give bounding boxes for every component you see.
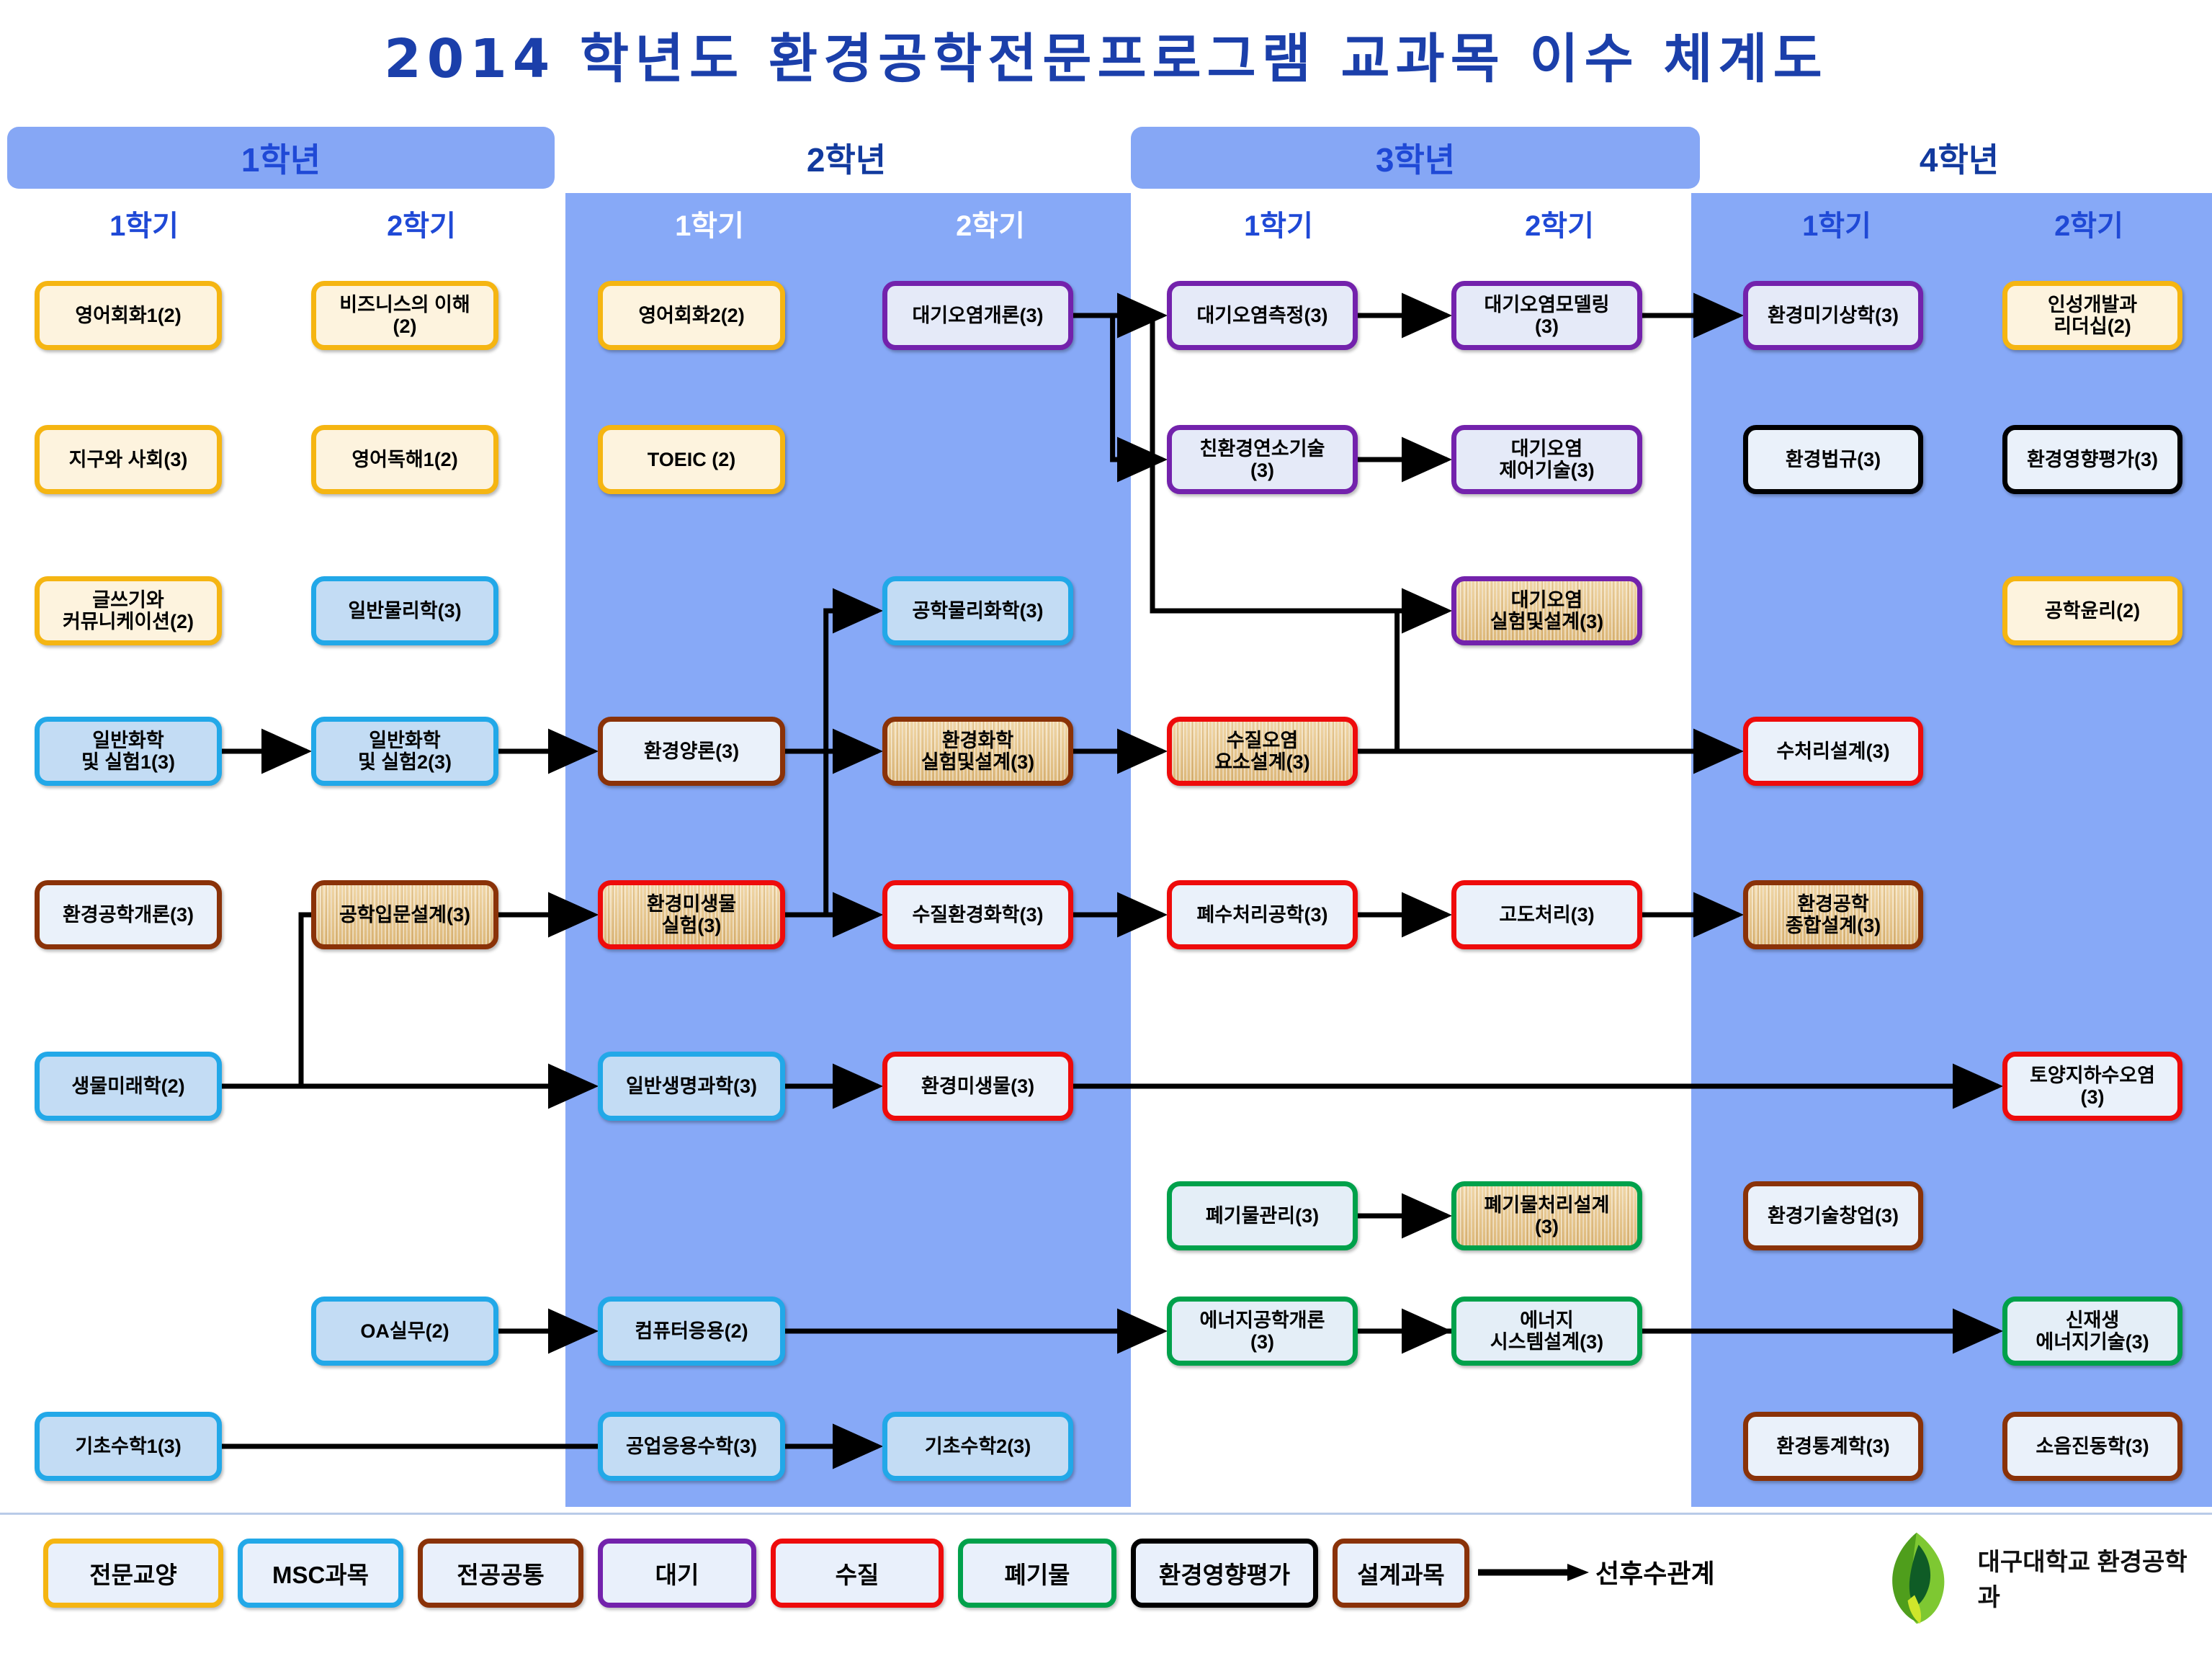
course-box-y2s1f[interactable]: 컴퓨터응용(2): [598, 1297, 785, 1366]
sem-header-5: 2학기: [1423, 202, 1696, 245]
course-box-y1s2c[interactable]: 일반물리학(3): [311, 576, 498, 645]
course-label: 토양지하수오염 (3): [2030, 1065, 2155, 1108]
course-label: 환경공학개론(3): [63, 904, 194, 926]
course-label: 대기오염측정(3): [1196, 305, 1327, 326]
course-label: 폐기물처리설계 (3): [1485, 1194, 1610, 1237]
year-band-3: 3학년: [1131, 127, 1700, 189]
course-box-y4s1a[interactable]: 환경미기상학(3): [1743, 281, 1923, 350]
course-label: 폐기물관리(3): [1206, 1205, 1319, 1227]
sem-header-0: 1학기: [14, 202, 274, 245]
course-box-y4s1f[interactable]: 환경통계학(3): [1743, 1412, 1923, 1481]
year-band-2-label: 2학년: [569, 127, 1124, 189]
course-label: 에너지공학개론 (3): [1200, 1309, 1325, 1353]
course-box-y2s1c[interactable]: 환경양론(3): [598, 717, 785, 786]
legend-item-2: 전공공통: [418, 1539, 583, 1608]
course-label: 폐수처리공학(3): [1196, 904, 1327, 926]
course-label: 친환경연소기술 (3): [1200, 438, 1325, 481]
course-label: 환경미기상학(3): [1768, 305, 1899, 326]
course-box-y3s1e[interactable]: 폐기물관리(3): [1167, 1181, 1358, 1250]
course-label: 환경통계학(3): [1776, 1436, 1889, 1457]
course-label: 영어회화1(2): [75, 305, 181, 326]
sem-header-1: 2학기: [288, 202, 555, 245]
year-band-4-label: 4학년: [1711, 127, 2208, 189]
course-box-y4s1b[interactable]: 환경법규(3): [1743, 425, 1923, 494]
course-label: 일반화학 및 실험2(3): [358, 730, 452, 773]
course-label: 공업응용수학(3): [626, 1436, 757, 1457]
course-label: TOEIC (2): [648, 449, 736, 470]
course-box-y3s2f[interactable]: 에너지 시스템설계(3): [1451, 1297, 1642, 1366]
course-box-y2s2f[interactable]: 기초수학2(3): [882, 1412, 1073, 1481]
course-label: 대기오염 실험및설계(3): [1490, 589, 1603, 632]
course-label: 공학윤리(2): [2045, 600, 2140, 622]
sem-header-7: 2학기: [1970, 202, 2208, 245]
course-box-y3s2e[interactable]: 폐기물처리설계 (3): [1451, 1181, 1642, 1250]
course-label: 신재생 에너지기술(3): [2036, 1309, 2149, 1353]
sem-header-2: 1학기: [576, 202, 843, 245]
course-label: 기초수학1(3): [75, 1436, 181, 1457]
course-box-y3s1d[interactable]: 폐수처리공학(3): [1167, 880, 1358, 949]
page-title: 2014 학년도 환경공학전문프로그램 교과목 이수 체계도: [0, 16, 2212, 93]
legend-item-7: 설계과목: [1333, 1539, 1469, 1608]
course-box-y1s1g[interactable]: 기초수학1(3): [35, 1412, 222, 1481]
course-box-y4s1c[interactable]: 수처리설계(3): [1743, 717, 1923, 786]
course-box-y3s2c[interactable]: 대기오염 실험및설계(3): [1451, 576, 1642, 645]
sem-header-0-label: 1학기: [109, 202, 179, 244]
course-label: 기초수학2(3): [925, 1436, 1031, 1457]
course-box-y1s1b[interactable]: 지구와 사회(3): [35, 425, 222, 494]
sem-header-6-label: 1학기: [1802, 202, 1871, 244]
course-label: 비즈니스의 이해 (2): [339, 294, 470, 337]
sem-header-1-label: 2학기: [387, 202, 456, 244]
course-box-y1s2e[interactable]: 공학입문설계(3): [311, 880, 498, 949]
sem-header-6: 1학기: [1714, 202, 1959, 245]
university-leaf-icon: [1866, 1527, 1968, 1628]
course-box-y1s1d[interactable]: 일반화학 및 실험1(3): [35, 717, 222, 786]
course-label: 에너지 시스템설계(3): [1490, 1309, 1603, 1353]
year-band-3-label: 3학년: [1131, 127, 1700, 189]
legend-item-0: 전문교양: [43, 1539, 223, 1608]
course-box-y2s2d[interactable]: 수질환경화학(3): [882, 880, 1073, 949]
course-label: 환경미생물 실험(3): [647, 893, 736, 936]
course-label: 환경기술창업(3): [1768, 1205, 1899, 1227]
course-box-y4s2f[interactable]: 소음진동학(3): [2002, 1412, 2182, 1481]
year-band-1-label: 1학년: [7, 127, 555, 189]
sem-header-4-label: 1학기: [1244, 202, 1313, 244]
course-label: 공학입문설계(3): [339, 904, 470, 926]
sem-header-5-label: 2학기: [1525, 202, 1594, 244]
course-box-y3s1f[interactable]: 에너지공학개론 (3): [1167, 1297, 1358, 1366]
legend-item-3: 대기: [598, 1539, 756, 1608]
course-label: 환경영향평가(3): [2027, 449, 2158, 470]
course-label: 대기오염 제어기술(3): [1499, 438, 1594, 481]
course-label: 글쓰기와 커뮤니케이션(2): [63, 589, 194, 632]
course-label: 대기오염개론(3): [912, 305, 1043, 326]
course-box-y2s1g[interactable]: 공업응용수학(3): [598, 1412, 785, 1481]
course-label: 환경양론(3): [644, 740, 739, 762]
course-label: 인성개발과 리더십(2): [2048, 294, 2137, 337]
legend-arrow-icon: [1477, 1562, 1592, 1583]
course-box-y3s1a[interactable]: 대기오염측정(3): [1167, 281, 1358, 350]
course-label: 환경화학 실험및설계(3): [921, 730, 1034, 773]
year-band-1: 1학년: [7, 127, 555, 189]
year-band-4: 4학년: [1711, 127, 2208, 189]
legend-arrow-label: 선후수관계: [1595, 1553, 1715, 1590]
sem-header-4: 1학기: [1142, 202, 1415, 245]
course-box-y1s1f[interactable]: 생물미래학(2): [35, 1052, 222, 1121]
legend-item-label: 수질: [836, 1556, 879, 1590]
course-box-y1s1e[interactable]: 환경공학개론(3): [35, 880, 222, 949]
course-label: 공학물리화학(3): [912, 600, 1043, 622]
course-box-y4s2d[interactable]: 토양지하수오염 (3): [2002, 1052, 2182, 1121]
course-box-y4s2a[interactable]: 인성개발과 리더십(2): [2002, 281, 2182, 350]
course-box-y2s2a[interactable]: 대기오염개론(3): [882, 281, 1073, 350]
legend-item-label: 폐기물: [1004, 1556, 1070, 1590]
course-box-y1s2f[interactable]: OA실무(2): [311, 1297, 498, 1366]
course-label: 환경미생물(3): [921, 1075, 1034, 1097]
legend-item-4: 수질: [771, 1539, 944, 1608]
course-box-y2s2e[interactable]: 환경미생물(3): [882, 1052, 1073, 1121]
sem-header-7-label: 2학기: [2054, 202, 2123, 244]
legend-item-label: 대기: [655, 1556, 699, 1590]
course-box-y3s1b[interactable]: 친환경연소기술 (3): [1167, 425, 1358, 494]
brand-label: 대구대학교 환경공학과: [1978, 1542, 2197, 1613]
legend-item-label: 전공공통: [457, 1556, 544, 1590]
legend-item-5: 폐기물: [958, 1539, 1116, 1608]
course-box-y2s2c[interactable]: 환경화학 실험및설계(3): [882, 717, 1073, 786]
course-label: 컴퓨터응용(2): [635, 1320, 748, 1342]
course-box-y1s2b[interactable]: 영어독해1(2): [311, 425, 498, 494]
course-label: 일반화학 및 실험1(3): [81, 730, 175, 773]
curriculum-flowchart: 2014 학년도 환경공학전문프로그램 교과목 이수 체계도 1학년 2학년 3…: [0, 0, 2212, 1659]
course-label: 영어독해1(2): [351, 449, 457, 470]
course-label: 영어회화2(2): [638, 305, 744, 326]
course-label: 생물미래학(2): [71, 1075, 184, 1097]
course-box-y2s1b[interactable]: TOEIC (2): [598, 425, 785, 494]
course-label: 소음진동학(3): [2036, 1436, 2149, 1457]
course-box-y4s2c[interactable]: 공학윤리(2): [2002, 576, 2182, 645]
course-box-y3s2d[interactable]: 고도처리(3): [1451, 880, 1642, 949]
course-label: 수질환경화학(3): [912, 904, 1043, 926]
course-box-y3s2b[interactable]: 대기오염 제어기술(3): [1451, 425, 1642, 494]
legend-item-1: MSC과목: [238, 1539, 403, 1608]
course-label: 환경공학 종합설계(3): [1786, 893, 1881, 936]
legend-item-label: 설계과목: [1357, 1556, 1444, 1590]
legend-item-label: MSC과목: [272, 1556, 369, 1590]
course-box-y1s2d[interactable]: 일반화학 및 실험2(3): [311, 717, 498, 786]
course-label: 수질오염 요소설계(3): [1214, 730, 1309, 773]
course-box-y2s2b[interactable]: 공학물리화학(3): [882, 576, 1073, 645]
legend-item-6: 환경영향평가: [1131, 1539, 1318, 1608]
course-box-y2s1a[interactable]: 영어회화2(2): [598, 281, 785, 350]
course-box-y1s2a[interactable]: 비즈니스의 이해 (2): [311, 281, 498, 350]
course-box-y4s2e[interactable]: 신재생 에너지기술(3): [2002, 1297, 2182, 1366]
course-box-y4s1d[interactable]: 환경공학 종합설계(3): [1743, 880, 1923, 949]
course-box-y2s1e[interactable]: 일반생명과학(3): [598, 1052, 785, 1121]
course-box-y4s2b[interactable]: 환경영향평가(3): [2002, 425, 2182, 494]
course-label: 일반물리학(3): [348, 600, 461, 622]
course-box-y1s1c[interactable]: 글쓰기와 커뮤니케이션(2): [35, 576, 222, 645]
course-label: 일반생명과학(3): [626, 1075, 757, 1097]
sem-header-2-label: 1학기: [675, 202, 744, 244]
course-label: 수처리설계(3): [1776, 740, 1889, 762]
course-label: OA실무(2): [360, 1320, 449, 1342]
brand-logo: 대구대학교 환경공학과: [1866, 1527, 2197, 1628]
course-box-y3s1c[interactable]: 수질오염 요소설계(3): [1167, 717, 1358, 786]
course-label: 고도처리(3): [1499, 904, 1594, 926]
course-box-y4s1e[interactable]: 환경기술창업(3): [1743, 1181, 1923, 1250]
course-label: 환경법규(3): [1786, 449, 1881, 470]
sem-header-3-label: 2학기: [956, 202, 1025, 244]
year-band-2: 2학년: [569, 127, 1124, 189]
course-label: 대기오염모델링 (3): [1485, 294, 1610, 337]
sem-header-3: 2학기: [854, 202, 1127, 245]
course-box-y2s1d[interactable]: 환경미생물 실험(3): [598, 880, 785, 949]
legend-item-label: 환경영향평가: [1159, 1556, 1290, 1590]
course-label: 지구와 사회(3): [69, 449, 188, 470]
course-box-y3s2a[interactable]: 대기오염모델링 (3): [1451, 281, 1642, 350]
course-box-y1s1a[interactable]: 영어회화1(2): [35, 281, 222, 350]
legend-item-label: 전문교양: [89, 1556, 176, 1590]
